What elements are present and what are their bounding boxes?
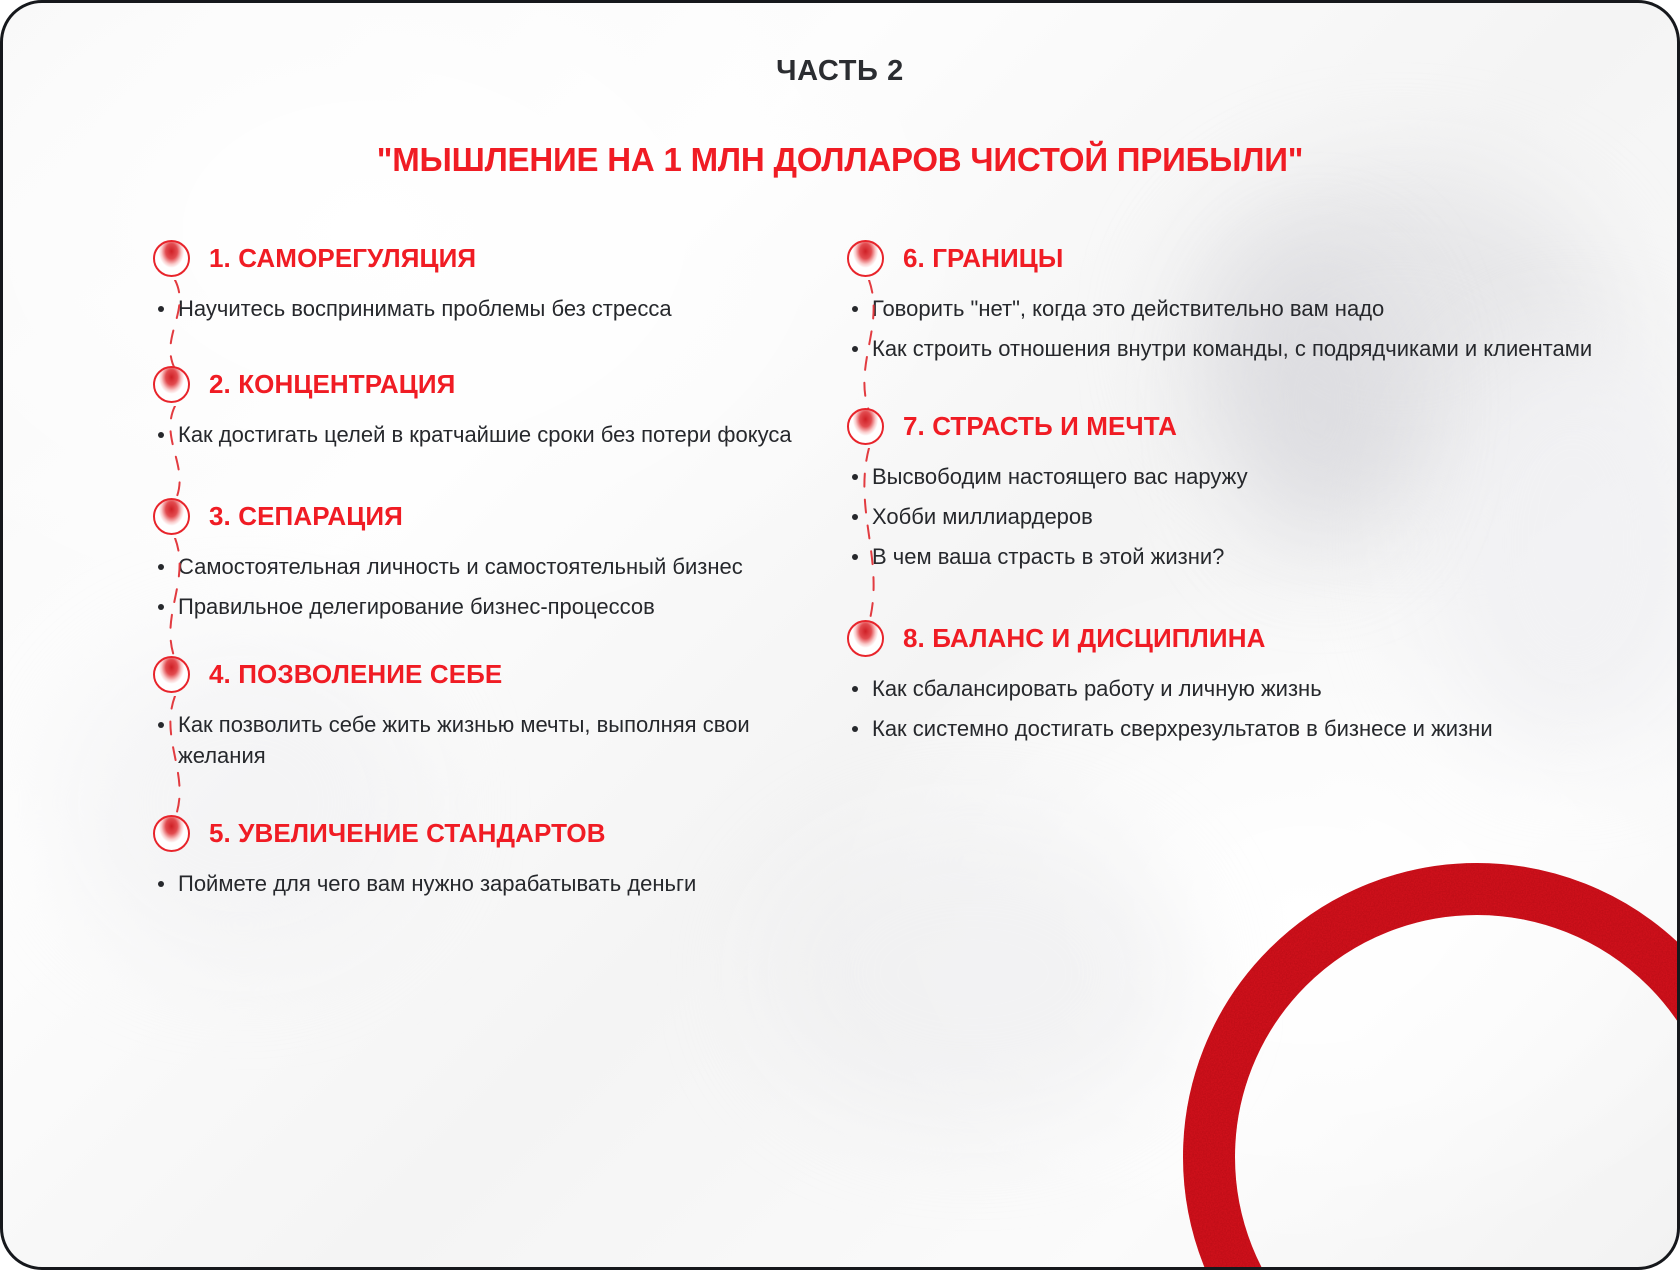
timeline-item-header: 4. ПОЗВОЛЕНИЕ СЕБЕ — [153, 652, 843, 696]
bullet-item: Как строить отношения внутри команды, с … — [847, 333, 1680, 364]
bullet-text: Научитесь воспринимать проблемы без стре… — [178, 293, 843, 324]
timeline-item: 4. ПОЗВОЛЕНИЕ СЕБЕКак позволить себе жит… — [153, 652, 843, 771]
timeline-node-icon — [847, 408, 884, 445]
bullet-text: Говорить "нет", когда это действительно … — [872, 293, 1680, 324]
bullet-item: Поймете для чего вам нужно зарабатывать … — [153, 868, 843, 899]
timeline-node-icon — [847, 240, 884, 277]
timeline-item-title: 6. ГРАНИЦЫ — [903, 243, 1063, 274]
page-part-label: ЧАСТЬ 2 — [3, 55, 1677, 88]
timeline-item-bullets: Самостоятельная личность и самостоятельн… — [153, 551, 843, 622]
bullet-text: Как системно достигать сверхрезультатов … — [872, 713, 1680, 744]
content-columns: 1. САМОРЕГУЛЯЦИЯНаучитесь воспринимать п… — [3, 236, 1680, 908]
bullet-item: В чем ваша страсть в этой жизни? — [847, 541, 1680, 572]
bullet-item: Хобби миллиардеров — [847, 501, 1680, 532]
bullet-item: Как достигать целей в кратчайшие сроки б… — [153, 419, 843, 450]
timeline-node-icon — [153, 240, 190, 277]
timeline-item: 2. КОНЦЕНТРАЦИЯКак достигать целей в кра… — [153, 362, 843, 450]
bullet-item: Правильное делегирование бизнес-процессо… — [153, 591, 843, 622]
timeline-item-header: 6. ГРАНИЦЫ — [847, 236, 1680, 280]
bullet-item: Высвободим настоящего вас наружу — [847, 461, 1680, 492]
timeline-item: 8. БАЛАНС И ДИСЦИПЛИНАКак сбалансировать… — [847, 616, 1680, 744]
timeline-item: 6. ГРАНИЦЫГоворить "нет", когда это дейс… — [847, 236, 1680, 364]
timeline-item: 7. СТРАСТЬ И МЕЧТАВысвободим настоящего … — [847, 404, 1680, 572]
timeline-item-bullets: Научитесь воспринимать проблемы без стре… — [153, 293, 843, 324]
bullet-text: Как позволить себе жить жизнью мечты, вы… — [178, 709, 843, 771]
timeline-item-header: 1. САМОРЕГУЛЯЦИЯ — [153, 236, 843, 280]
timeline-item-header: 3. СЕПАРАЦИЯ — [153, 494, 843, 538]
timeline-node-icon — [153, 815, 190, 852]
bullet-item: Как системно достигать сверхрезультатов … — [847, 713, 1680, 744]
timeline-item-title: 4. ПОЗВОЛЕНИЕ СЕБЕ — [209, 659, 502, 690]
timeline-item-title: 5. УВЕЛИЧЕНИЕ СТАНДАРТОВ — [209, 818, 606, 849]
bullet-item: Как сбалансировать работу и личную жизнь — [847, 673, 1680, 704]
timeline-item-bullets: Поймете для чего вам нужно зарабатывать … — [153, 868, 843, 899]
bullet-text: Правильное делегирование бизнес-процессо… — [178, 591, 843, 622]
timeline-item-bullets: Высвободим настоящего вас наружуХобби ми… — [847, 461, 1680, 572]
timeline-item: 3. СЕПАРАЦИЯСамостоятельная личность и с… — [153, 494, 843, 622]
timeline-item-title: 3. СЕПАРАЦИЯ — [209, 501, 403, 532]
timeline-node-icon — [153, 656, 190, 693]
timeline-item-title: 7. СТРАСТЬ И МЕЧТА — [903, 411, 1177, 442]
timeline-item-bullets: Как сбалансировать работу и личную жизнь… — [847, 673, 1680, 744]
bullet-text: В чем ваша страсть в этой жизни? — [872, 541, 1680, 572]
timeline-node-icon — [153, 366, 190, 403]
bullet-item: Самостоятельная личность и самостоятельн… — [153, 551, 843, 582]
timeline-item-bullets: Говорить "нет", когда это действительно … — [847, 293, 1680, 364]
bullet-text: Хобби миллиардеров — [872, 501, 1680, 532]
bullet-item: Как позволить себе жить жизнью мечты, вы… — [153, 709, 843, 771]
timeline-node-icon — [153, 498, 190, 535]
bullet-text: Как достигать целей в кратчайшие сроки б… — [178, 419, 843, 450]
timeline-item-title: 8. БАЛАНС И ДИСЦИПЛИНА — [903, 623, 1265, 654]
timeline-item-header: 5. УВЕЛИЧЕНИЕ СТАНДАРТОВ — [153, 811, 843, 855]
bullet-text: Как строить отношения внутри команды, с … — [872, 333, 1680, 364]
timeline-item-title: 2. КОНЦЕНТРАЦИЯ — [209, 369, 455, 400]
timeline-item-bullets: Как позволить себе жить жизнью мечты, вы… — [153, 709, 843, 771]
timeline-item-header: 2. КОНЦЕНТРАЦИЯ — [153, 362, 843, 406]
timeline-item: 5. УВЕЛИЧЕНИЕ СТАНДАРТОВПоймете для чего… — [153, 811, 843, 899]
bullet-text: Высвободим настоящего вас наружу — [872, 461, 1680, 492]
bullet-text: Самостоятельная личность и самостоятельн… — [178, 551, 843, 582]
timeline-item-bullets: Как достигать целей в кратчайшие сроки б… — [153, 419, 843, 450]
timeline-node-icon — [847, 620, 884, 657]
bullet-item: Научитесь воспринимать проблемы без стре… — [153, 293, 843, 324]
timeline-item: 1. САМОРЕГУЛЯЦИЯНаучитесь воспринимать п… — [153, 236, 843, 324]
timeline-item-header: 8. БАЛАНС И ДИСЦИПЛИНА — [847, 616, 1680, 660]
bullet-item: Говорить "нет", когда это действительно … — [847, 293, 1680, 324]
page-title: "МЫШЛЕНИЕ НА 1 МЛН ДОЛЛАРОВ ЧИСТОЙ ПРИБЫ… — [3, 141, 1677, 179]
slide-root: ЧАСТЬ 2 "МЫШЛЕНИЕ НА 1 МЛН ДОЛЛАРОВ ЧИСТ… — [0, 0, 1680, 1270]
timeline-item-header: 7. СТРАСТЬ И МЕЧТА — [847, 404, 1680, 448]
right-column: 6. ГРАНИЦЫГоворить "нет", когда это дейс… — [843, 236, 1680, 908]
bullet-text: Поймете для чего вам нужно зарабатывать … — [178, 868, 843, 899]
left-column: 1. САМОРЕГУЛЯЦИЯНаучитесь воспринимать п… — [3, 236, 843, 908]
bullet-text: Как сбалансировать работу и личную жизнь — [872, 673, 1680, 704]
timeline-item-title: 1. САМОРЕГУЛЯЦИЯ — [209, 243, 476, 274]
